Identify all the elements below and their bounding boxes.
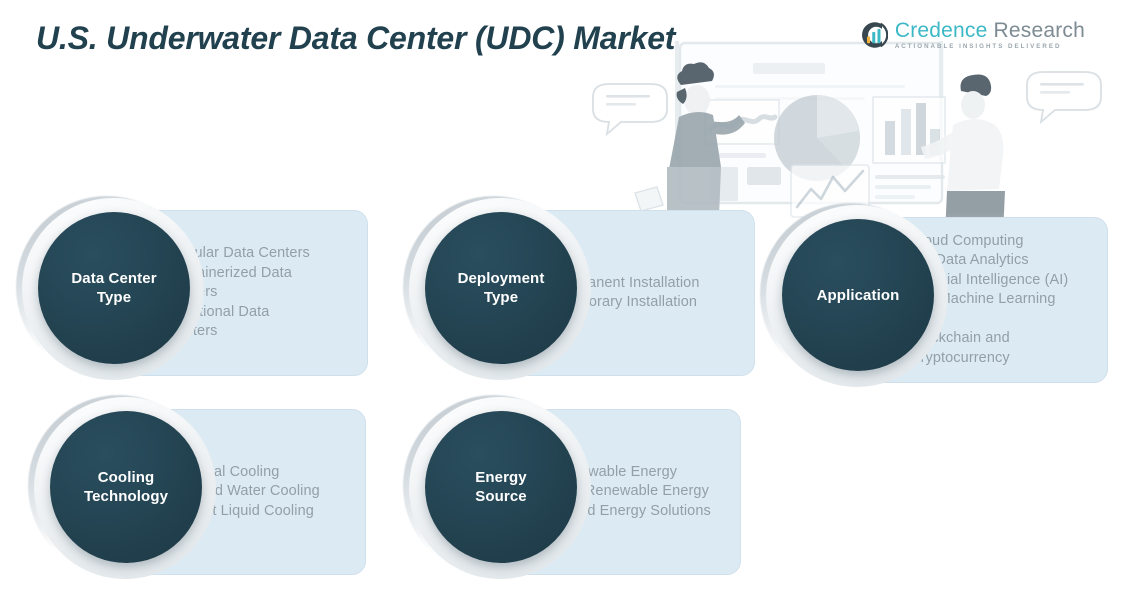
line-chart-panel (705, 100, 781, 201)
segment-badge[interactable]: Application (760, 203, 954, 397)
segment-badge[interactable]: Deployment Type (403, 196, 597, 390)
segment-label: Application (809, 286, 908, 305)
segment-label: Deployment Type (450, 269, 553, 307)
brand-logo: Credence Research Actionable Insights De… (858, 20, 1085, 50)
brand-tagline: Actionable Insights Delivered (895, 44, 1085, 50)
speech-bubble-left (593, 84, 667, 134)
speech-bubble-right (1027, 72, 1101, 122)
brand-name-accent: Credence (895, 19, 988, 42)
segment-label: Energy Source (467, 468, 534, 506)
presentation-board (675, 41, 943, 203)
badge-core: Cooling Technology (50, 411, 202, 563)
brand-name-rest: Research (987, 19, 1085, 42)
brand-name: Credence Research (895, 20, 1085, 41)
bar-chart-panel (873, 97, 945, 199)
badge-core: Deployment Type (425, 212, 577, 364)
segment-badge[interactable]: Cooling Technology (28, 395, 222, 589)
badge-core: Energy Source (425, 411, 577, 563)
segment-label: Data Center Type (63, 269, 164, 307)
segment-badge[interactable]: Energy Source (403, 395, 597, 589)
segment-badge[interactable]: Data Center Type (16, 196, 210, 390)
badge-core: Data Center Type (38, 212, 190, 364)
infographic-root: U.S. Underwater Data Center (UDC) Market… (0, 0, 1123, 615)
bar-chart-circle-icon (858, 20, 888, 50)
brand-text: Credence Research Actionable Insights De… (895, 20, 1085, 50)
badge-core: Application (782, 219, 934, 371)
page-title: U.S. Underwater Data Center (UDC) Market (36, 20, 675, 57)
pie-chart (774, 95, 860, 181)
segment-label: Cooling Technology (76, 468, 176, 506)
